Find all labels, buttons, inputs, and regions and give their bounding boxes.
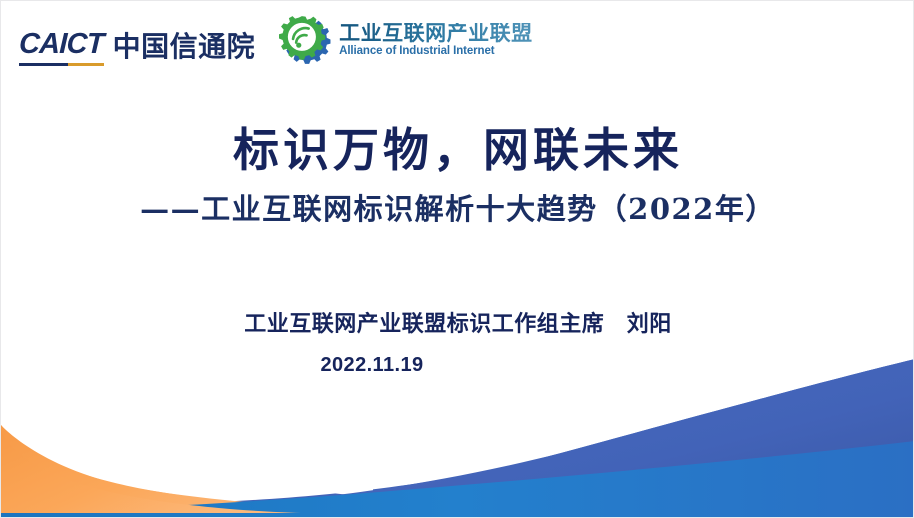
white-crescent-mask — [1, 373, 373, 497]
presentation-slide: CAICT 中国信通院 — [0, 0, 914, 518]
caict-wordmark: CAICT — [19, 30, 104, 66]
logo-bar: CAICT 中国信通院 — [19, 11, 533, 69]
caict-logo: CAICT 中国信通院 — [19, 14, 255, 66]
indigo-wave-shape — [1, 359, 914, 518]
indigo-wave-overlay — [301, 359, 914, 518]
title-block: 标识万物，网联未来 ——工业互联网标识解析十大趋势（2022年） — [1, 123, 914, 228]
caict-rule-blue-segment — [19, 63, 68, 66]
caict-underline-rule — [19, 63, 104, 66]
presenter-name-and-role: 工业互联网产业联盟标识工作组主席 刘阳 — [1, 311, 914, 340]
aii-chinese-name: 工业互联网产业联盟 — [339, 23, 533, 44]
page-title: 标识万物，网联未来 — [1, 123, 914, 177]
gear-wifi-icon — [279, 14, 331, 66]
wifi-dot — [296, 43, 301, 48]
aii-logo: 工业互联网产业联盟 Alliance of Industrial Interne… — [279, 14, 533, 66]
white-crescent-overlay — [1, 379, 301, 495]
presenter-block: 工业互联网产业联盟标识工作组主席 刘阳 2022.11.19 — [1, 311, 914, 377]
orange-swoosh-fill — [1, 425, 373, 510]
aii-english-name: Alliance of Industrial Internet — [339, 46, 533, 58]
presentation-date: 2022.11.19 — [1, 354, 914, 377]
orange-swoosh-overlay — [1, 431, 301, 513]
caict-chinese-name: 中国信通院 — [113, 33, 256, 66]
gear-green-hub — [288, 23, 316, 51]
caict-letters: CAICT — [18, 30, 104, 61]
aii-text-block: 工业互联网产业联盟 Alliance of Industrial Interne… — [339, 23, 533, 58]
slide-decoration — [1, 1, 914, 518]
page-subtitle: ——工业互联网标识解析十大趋势（2022年） — [1, 191, 914, 227]
caict-rule-gold-segment — [68, 63, 104, 66]
orange-swoosh-shape — [1, 425, 361, 510]
blue-wave-shape — [1, 439, 914, 518]
blue-wave-overlay — [1, 441, 914, 518]
